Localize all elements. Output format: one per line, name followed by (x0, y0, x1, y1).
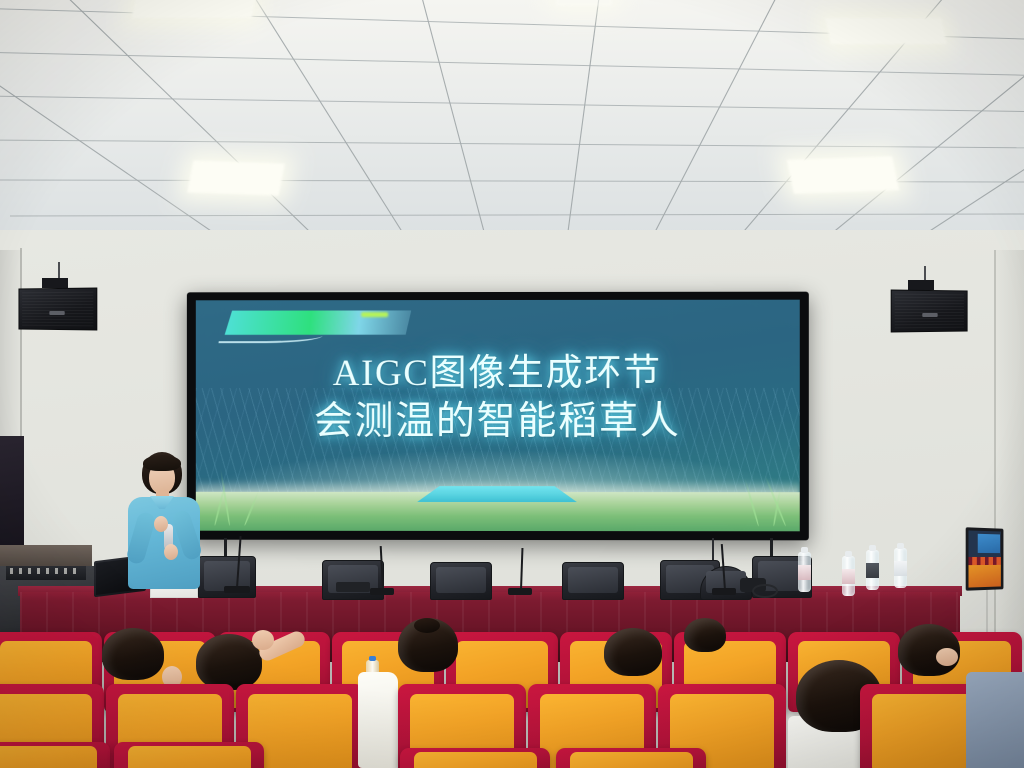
seat-cushion (414, 752, 537, 768)
ceiling-light-2 (187, 160, 285, 195)
table-device (336, 582, 370, 592)
seat-cushion (128, 746, 251, 768)
slide-title-block: AIGC图像生成环节 会测温的智能稻草人 (196, 351, 800, 447)
monitor-power-cable (986, 590, 988, 632)
monitor-screen (968, 530, 1000, 587)
projection-screen-bezel: AIGC图像生成环节 会测温的智能稻草人 (187, 292, 809, 541)
bottle-label (842, 569, 855, 584)
wall-corner-right (994, 250, 996, 650)
hair-bow (414, 618, 440, 633)
wall-mounted-monitor[interactable] (966, 527, 1004, 590)
seat-cushion (872, 694, 977, 768)
ceiling-light-1 (132, 0, 257, 18)
water-bottle (866, 550, 879, 590)
right-wall-speaker (891, 290, 968, 333)
panel-chair[interactable] (430, 562, 492, 600)
audience-head (684, 618, 726, 652)
mixer-knobs[interactable] (10, 568, 76, 574)
water-bottle (894, 548, 907, 588)
bottle-cap (369, 656, 376, 661)
audience-blue-shirt (966, 672, 1024, 768)
monitor-image-slide (978, 534, 1000, 553)
chair-pad (436, 567, 486, 593)
slide-title-line-2: 会测温的智能稻草人 (196, 397, 800, 447)
ceiling-light-4 (825, 18, 947, 44)
microphone-base (508, 588, 532, 595)
panel-chair[interactable] (562, 562, 624, 600)
microphone-base (712, 588, 736, 595)
audience-seat[interactable] (400, 748, 550, 768)
presenter (124, 452, 206, 594)
right-speaker-grille (895, 294, 964, 329)
microphone-base (370, 588, 394, 595)
table-cable-coil (752, 584, 778, 598)
right-speaker-logo (922, 313, 937, 317)
water-bottle (798, 552, 811, 592)
ceiling-light-3 (787, 156, 899, 194)
bottle-cap (869, 545, 876, 551)
audience-seat[interactable] (556, 748, 706, 768)
monitor-image-heads (968, 557, 1000, 565)
slide-ribbon-swoosh (218, 331, 323, 343)
projection-screen[interactable]: AIGC图像生成环节 会测温的智能稻草人 (196, 300, 800, 532)
audience-head (102, 628, 164, 680)
left-speaker-logo (49, 311, 64, 315)
slide-ribbon-highlight (361, 312, 388, 317)
slide-glow-platform (417, 486, 577, 502)
white-tote-bag (358, 672, 398, 768)
seat-cushion (570, 752, 693, 768)
slide-title-line-1: AIGC图像生成环节 (196, 351, 800, 397)
audience-head (604, 628, 662, 676)
right-wall (994, 250, 1024, 650)
bottle-cap (801, 547, 808, 553)
bottle-label (894, 561, 907, 576)
audience-hand (936, 648, 958, 666)
water-bottle (842, 556, 855, 596)
chair-pad (568, 567, 618, 593)
audience-seat[interactable] (0, 742, 110, 768)
left-wall-speaker (18, 288, 97, 331)
bottle-cap (845, 551, 852, 557)
seat-cushion (0, 746, 97, 768)
right-speaker-bracket (908, 280, 934, 290)
ceiling-light-5 (556, 0, 612, 6)
bottle-label (798, 565, 811, 580)
presenter-fringe (143, 455, 181, 471)
bottle-cap (897, 543, 904, 549)
presenter-hand-right (164, 544, 178, 560)
presentation-room-photo: AIGC图像生成环节 会测温的智能稻草人 (0, 0, 1024, 768)
bottle-label (866, 563, 879, 578)
left-speaker-bracket (42, 278, 68, 288)
microphone-base (224, 586, 250, 593)
left-speaker-grille (22, 292, 93, 327)
presenter-hand-left (154, 516, 168, 532)
audience-hand (252, 630, 274, 650)
audience-seat[interactable] (114, 742, 264, 768)
